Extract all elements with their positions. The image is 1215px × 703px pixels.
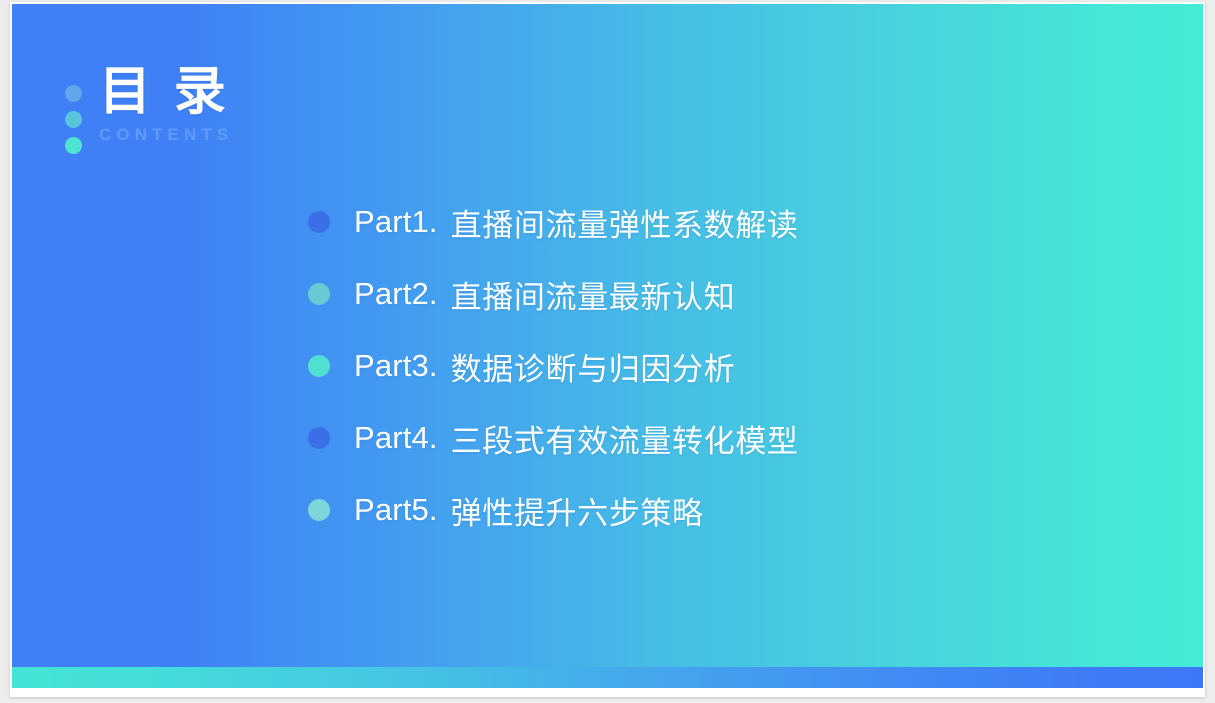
bullet-icon: [308, 211, 330, 233]
header-dot-1-icon: [65, 85, 82, 102]
contents-item-title: 直播间流量最新认知: [451, 272, 736, 317]
header-dot-2-icon: [65, 111, 82, 128]
contents-item-2[interactable]: Part2. 直播间流量最新认知: [308, 258, 798, 330]
slide-header: 目 录 CONTENTS: [65, 66, 233, 154]
bullet-icon: [308, 499, 330, 521]
bullet-icon: [308, 283, 330, 305]
contents-item-part-label: Part5.: [354, 492, 438, 528]
header-title-group: 目 录 CONTENTS: [99, 66, 233, 145]
contents-item-part-label: Part2.: [354, 276, 438, 312]
contents-item-3[interactable]: Part3. 数据诊断与归因分析: [308, 330, 798, 402]
contents-list: Part1. 直播间流量弹性系数解读 Part2. 直播间流量最新认知 Part…: [308, 186, 798, 546]
bottom-accent-bar: [12, 667, 1203, 688]
page-canvas: 目 录 CONTENTS Part1. 直播间流量弹性系数解读 Part2. 直…: [0, 0, 1215, 703]
contents-item-part-label: Part3.: [354, 348, 438, 384]
bullet-icon: [308, 355, 330, 377]
contents-item-part-label: Part1.: [354, 204, 438, 240]
contents-item-title: 三段式有效流量转化模型: [451, 416, 799, 461]
contents-item-4[interactable]: Part4. 三段式有效流量转化模型: [308, 402, 798, 474]
contents-item-title: 弹性提升六步策略: [451, 488, 704, 533]
contents-item-title: 直播间流量弹性系数解读: [451, 200, 799, 245]
contents-item-1[interactable]: Part1. 直播间流量弹性系数解读: [308, 186, 798, 258]
contents-item-part-label: Part4.: [354, 420, 438, 456]
header-dot-stack: [65, 66, 82, 154]
contents-item-title: 数据诊断与归因分析: [451, 344, 736, 389]
contents-item-5[interactable]: Part5. 弹性提升六步策略: [308, 474, 798, 546]
bullet-icon: [308, 427, 330, 449]
page-title: 目 录: [99, 66, 233, 118]
slide-body: 目 录 CONTENTS Part1. 直播间流量弹性系数解读 Part2. 直…: [12, 4, 1203, 667]
header-dot-3-icon: [65, 137, 82, 154]
page-subtitle: CONTENTS: [99, 125, 233, 145]
